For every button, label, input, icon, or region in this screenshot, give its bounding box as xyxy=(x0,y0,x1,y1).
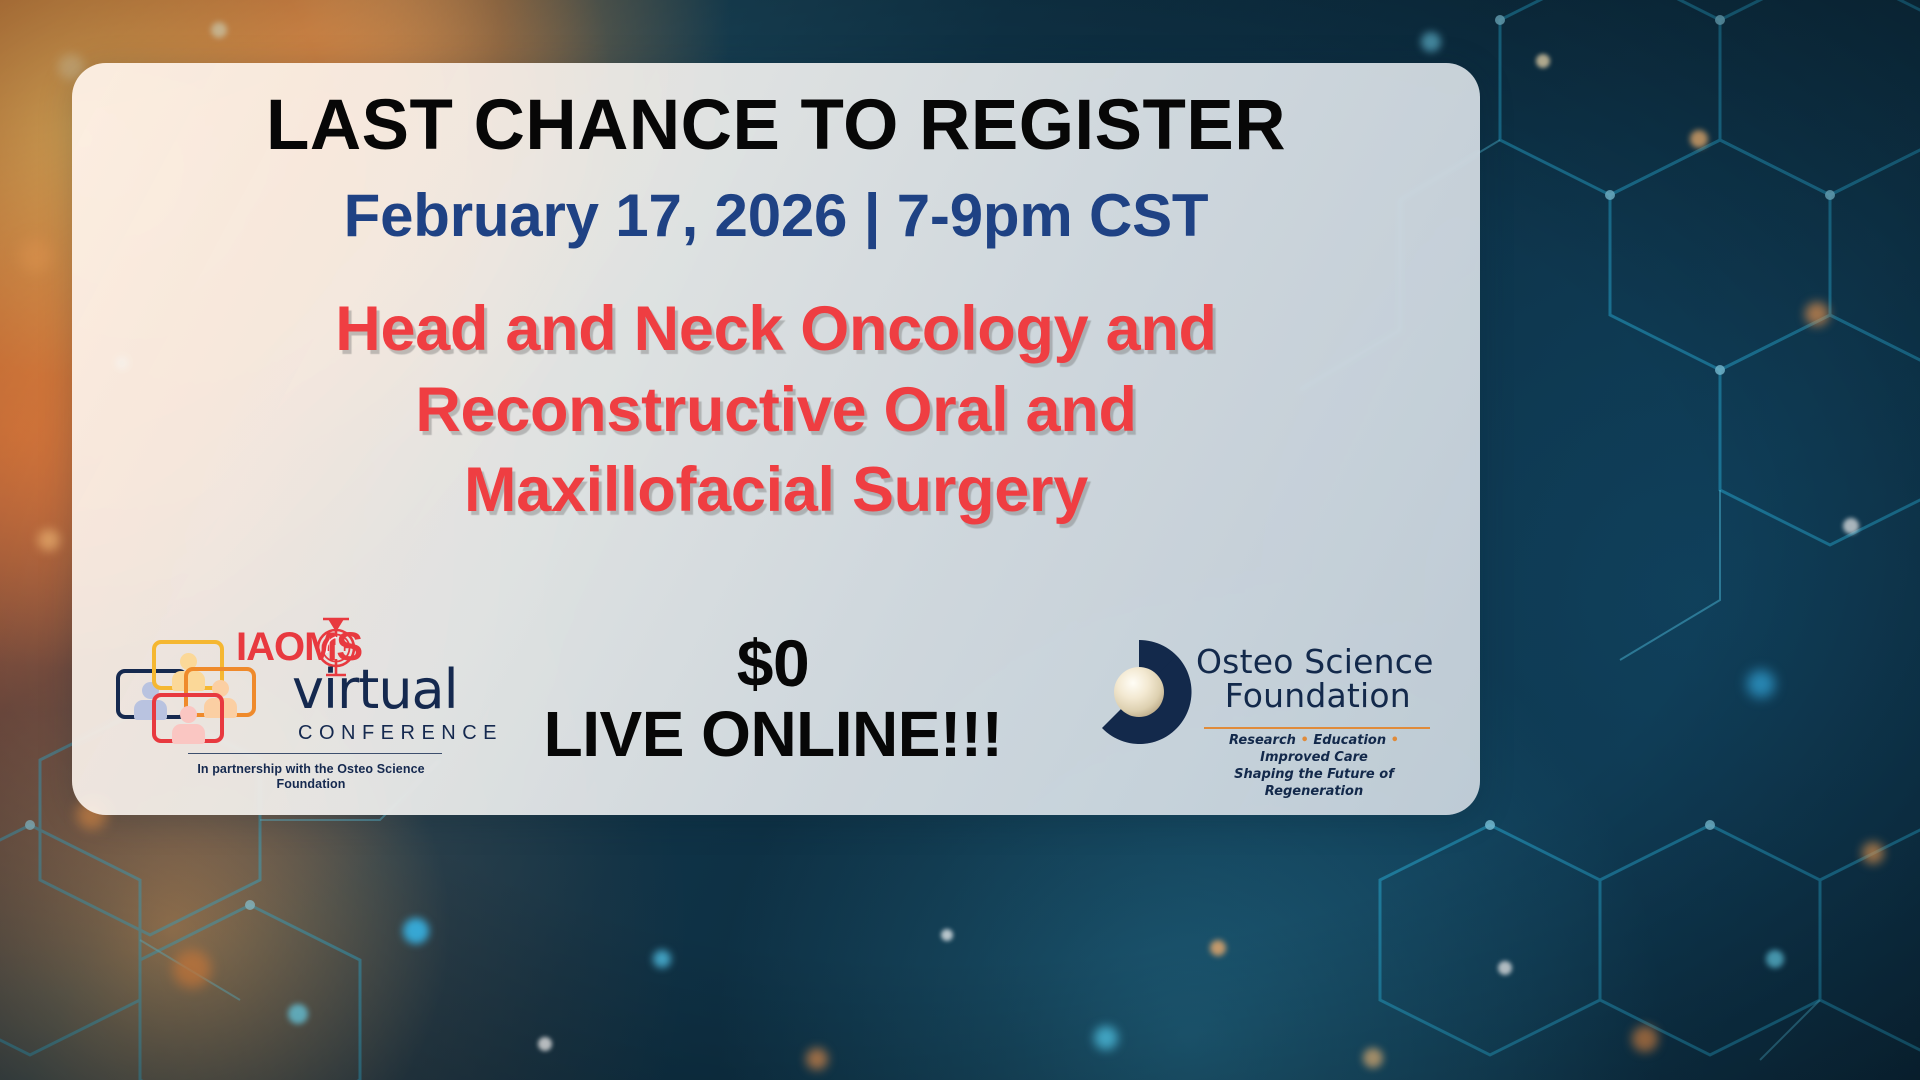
event-headline: Head and Neck Oncology and Reconstructiv… xyxy=(116,289,1436,531)
people-tiles-icon xyxy=(114,639,242,751)
osteo-tagline-line-1: Research • Education • Improved Care xyxy=(1194,733,1434,767)
iaoms-partnership-text: In partnership with the Osteo Science Fo… xyxy=(176,762,446,792)
headline-line-3: Maxillofacial Surgery xyxy=(116,450,1436,531)
svg-text:M: M xyxy=(321,644,330,654)
osteo-name-line-1: Osteo Science xyxy=(1196,642,1434,681)
page-title: LAST CHANCE TO REGISTER xyxy=(116,89,1436,163)
content-card: LAST CHANCE TO REGISTER February 17, 202… xyxy=(72,63,1480,815)
headline-line-1: Head and Neck Oncology and xyxy=(116,289,1436,370)
iaoms-divider xyxy=(188,753,442,754)
svg-text:I: I xyxy=(333,638,336,648)
card-footer-row: IAOMS xyxy=(72,619,1480,809)
osteo-tagline-line-2: Shaping the Future of Regeneration xyxy=(1194,767,1434,801)
headline-line-2: Reconstructive Oral and xyxy=(116,370,1436,451)
svg-text:F: F xyxy=(343,644,349,654)
osteo-wordmark: Osteo Science Foundation xyxy=(1196,645,1434,714)
osteo-tag-education: Education xyxy=(1313,733,1386,748)
price-amount: $0 xyxy=(544,629,1003,699)
iaoms-virtual-wordmark: virtual xyxy=(292,663,458,717)
osteo-science-foundation-logo: Osteo Science Foundation Research • Educ… xyxy=(1084,629,1434,789)
osteo-name-line-2: Foundation xyxy=(1196,679,1434,713)
osteo-tag-improved-care: Improved Care xyxy=(1260,750,1368,765)
osteo-tag-bullet-2: • xyxy=(1391,733,1399,748)
iaoms-conference-wordmark: CONFERENCE xyxy=(298,723,503,743)
live-online-label: LIVE ONLINE!!! xyxy=(544,699,1003,771)
iaoms-virtual-conference-logo: IAOMS xyxy=(114,623,444,791)
osteo-divider xyxy=(1204,727,1430,729)
osteo-tag-bullet-1: • xyxy=(1300,733,1308,748)
promo-poster: LAST CHANCE TO REGISTER February 17, 202… xyxy=(0,0,1920,1080)
event-dateline: February 17, 2026 | 7-9pm CST xyxy=(116,185,1436,247)
price-block: $0 LIVE ONLINE!!! xyxy=(544,629,1003,771)
osteo-sphere-icon xyxy=(1084,637,1194,747)
osteo-tagline: Research • Education • Improved Care Sha… xyxy=(1194,733,1434,801)
osteo-tag-research: Research xyxy=(1229,733,1296,748)
